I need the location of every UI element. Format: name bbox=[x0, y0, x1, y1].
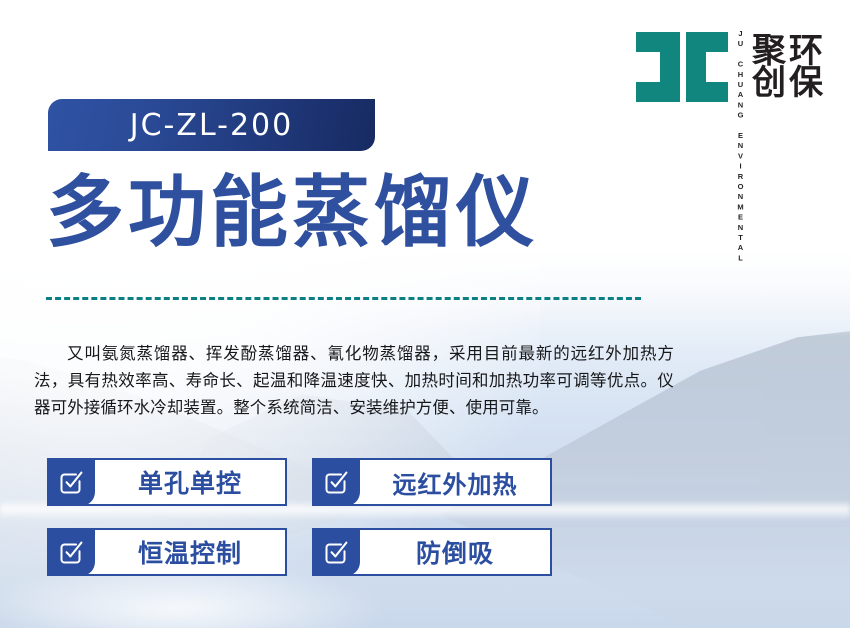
product-banner: JU CHUANG ENVIRONMENTAL 聚环 创保 JC-ZL-200 … bbox=[0, 0, 850, 628]
checkbox-checked-icon bbox=[312, 528, 360, 576]
feature-chip: 远红外加热 bbox=[312, 458, 552, 506]
brand-logo: JU CHUANG ENVIRONMENTAL 聚环 创保 bbox=[634, 24, 826, 110]
dashed-divider bbox=[46, 297, 641, 300]
jc-monogram-icon bbox=[634, 29, 730, 105]
feature-label: 防倒吸 bbox=[360, 530, 550, 574]
feature-chip: 恒温控制 bbox=[47, 528, 287, 576]
feature-label: 远红外加热 bbox=[360, 460, 550, 504]
feature-chip: 单孔单控 bbox=[47, 458, 287, 506]
feature-label: 单孔单控 bbox=[95, 460, 285, 504]
product-description: 又叫氨氮蒸馏器、挥发酚蒸馏器、氰化物蒸馏器，采用目前最新的远红外加热方法，具有热… bbox=[34, 340, 674, 421]
feature-label: 恒温控制 bbox=[95, 530, 285, 574]
feature-chip: 防倒吸 bbox=[312, 528, 552, 576]
brand-name-cn: 聚环 创保 bbox=[752, 35, 826, 100]
product-title: 多功能蒸馏仪 bbox=[46, 174, 538, 252]
brand-vertical-text: JU CHUANG ENVIRONMENTAL bbox=[735, 29, 745, 105]
feature-list: 单孔单控 远红外加热 恒温控制 bbox=[47, 458, 552, 576]
model-number-text: JC-ZL-200 bbox=[130, 108, 293, 143]
checkbox-checked-icon bbox=[312, 458, 360, 506]
brand-name-line2: 创保 bbox=[752, 67, 826, 99]
model-number-badge: JC-ZL-200 bbox=[48, 99, 375, 151]
checkbox-checked-icon bbox=[47, 528, 95, 576]
checkbox-checked-icon bbox=[47, 458, 95, 506]
